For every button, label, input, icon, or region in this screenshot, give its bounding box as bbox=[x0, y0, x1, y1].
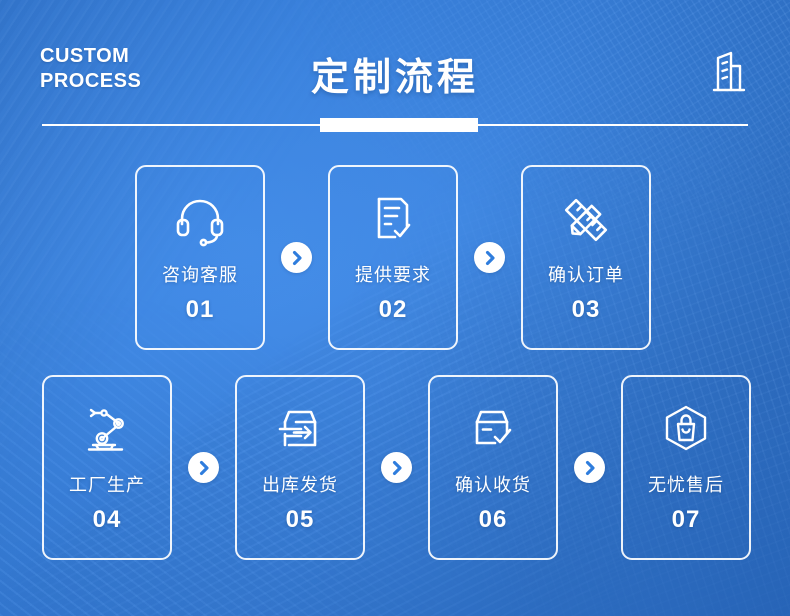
chevron-right-icon[interactable] bbox=[188, 452, 219, 483]
step-card-01[interactable]: 咨询客服 01 bbox=[135, 165, 265, 350]
chevron-right-icon[interactable] bbox=[474, 242, 505, 273]
step-label: 确认收货 bbox=[455, 471, 531, 497]
chevron-right-icon[interactable] bbox=[574, 452, 605, 483]
step-number: 01 bbox=[186, 296, 215, 324]
chevron-right-icon[interactable] bbox=[381, 452, 412, 483]
step-label: 确认订单 bbox=[548, 261, 624, 287]
robot-arm-icon bbox=[79, 403, 135, 457]
step-card-02[interactable]: 提供要求 02 bbox=[328, 165, 458, 350]
building-icon bbox=[708, 50, 748, 94]
step-number: 02 bbox=[379, 296, 408, 324]
ruler-pencil-icon bbox=[558, 193, 614, 247]
page-title: 定制流程 bbox=[0, 46, 790, 101]
hexagon-bag-icon bbox=[658, 403, 714, 457]
step-card-06[interactable]: 确认收货 06 bbox=[428, 375, 558, 560]
box-check-icon bbox=[465, 403, 521, 457]
step-label: 无忧售后 bbox=[648, 471, 724, 497]
custom-process-banner: CUSTOM PROCESS 定制流程 bbox=[0, 0, 790, 616]
document-check-icon bbox=[365, 193, 421, 247]
header-divider bbox=[0, 118, 790, 132]
divider-accent bbox=[320, 118, 478, 132]
step-card-03[interactable]: 确认订单 03 bbox=[521, 165, 651, 350]
step-label: 工厂生产 bbox=[69, 471, 145, 497]
chevron-right-icon[interactable] bbox=[281, 242, 312, 273]
step-number: 06 bbox=[479, 506, 508, 534]
box-arrow-icon bbox=[272, 403, 328, 457]
banner-header: CUSTOM PROCESS 定制流程 bbox=[0, 0, 790, 140]
step-label: 提供要求 bbox=[355, 261, 431, 287]
step-number: 04 bbox=[93, 506, 122, 534]
step-card-07[interactable]: 无忧售后 07 bbox=[621, 375, 751, 560]
step-card-04[interactable]: 工厂生产 04 bbox=[42, 375, 172, 560]
step-label: 咨询客服 bbox=[162, 261, 238, 287]
step-label: 出库发货 bbox=[262, 471, 338, 497]
step-number: 05 bbox=[286, 506, 315, 534]
step-number: 03 bbox=[572, 296, 601, 324]
headset-icon bbox=[172, 193, 228, 247]
process-row-1: 咨询客服 01 提供要求 02 bbox=[135, 165, 651, 350]
step-card-05[interactable]: 出库发货 05 bbox=[235, 375, 365, 560]
process-row-2: 工厂生产 04 bbox=[42, 375, 751, 560]
step-number: 07 bbox=[672, 506, 701, 534]
